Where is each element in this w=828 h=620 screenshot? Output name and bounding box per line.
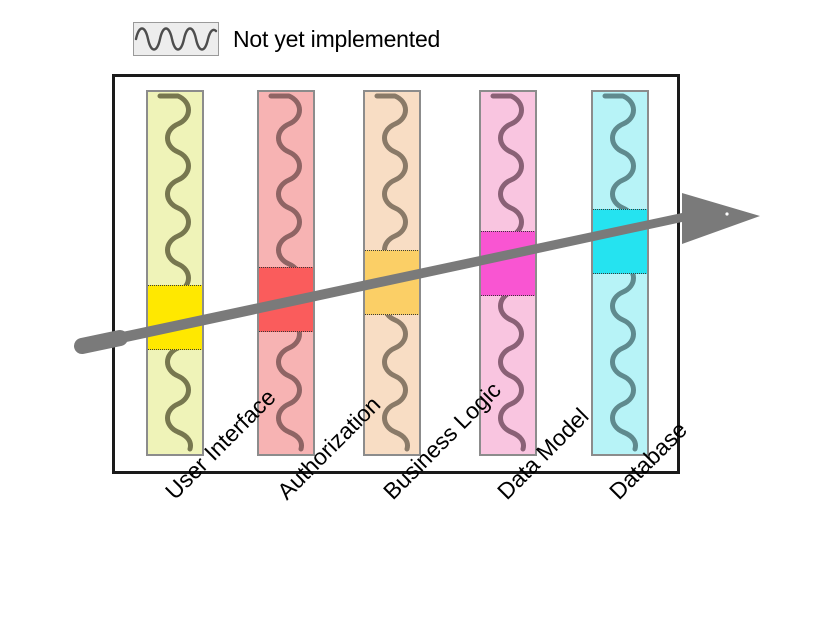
implemented-slice-2	[364, 250, 420, 315]
implemented-slice-4	[592, 209, 648, 274]
legend: Not yet implemented	[133, 22, 440, 56]
implemented-slice-0	[147, 285, 203, 350]
implemented-slice-1	[258, 267, 314, 332]
layer-column-user-interface[interactable]	[146, 90, 204, 456]
diagram-canvas: Not yet implemented	[0, 0, 828, 620]
column-wave-icon-0	[148, 92, 202, 454]
wave-pattern-icon	[133, 22, 219, 56]
wave-pattern-svg	[134, 23, 218, 55]
legend-label: Not yet implemented	[233, 26, 440, 53]
implemented-slice-3	[480, 231, 536, 296]
layer-column-database[interactable]	[591, 90, 649, 456]
